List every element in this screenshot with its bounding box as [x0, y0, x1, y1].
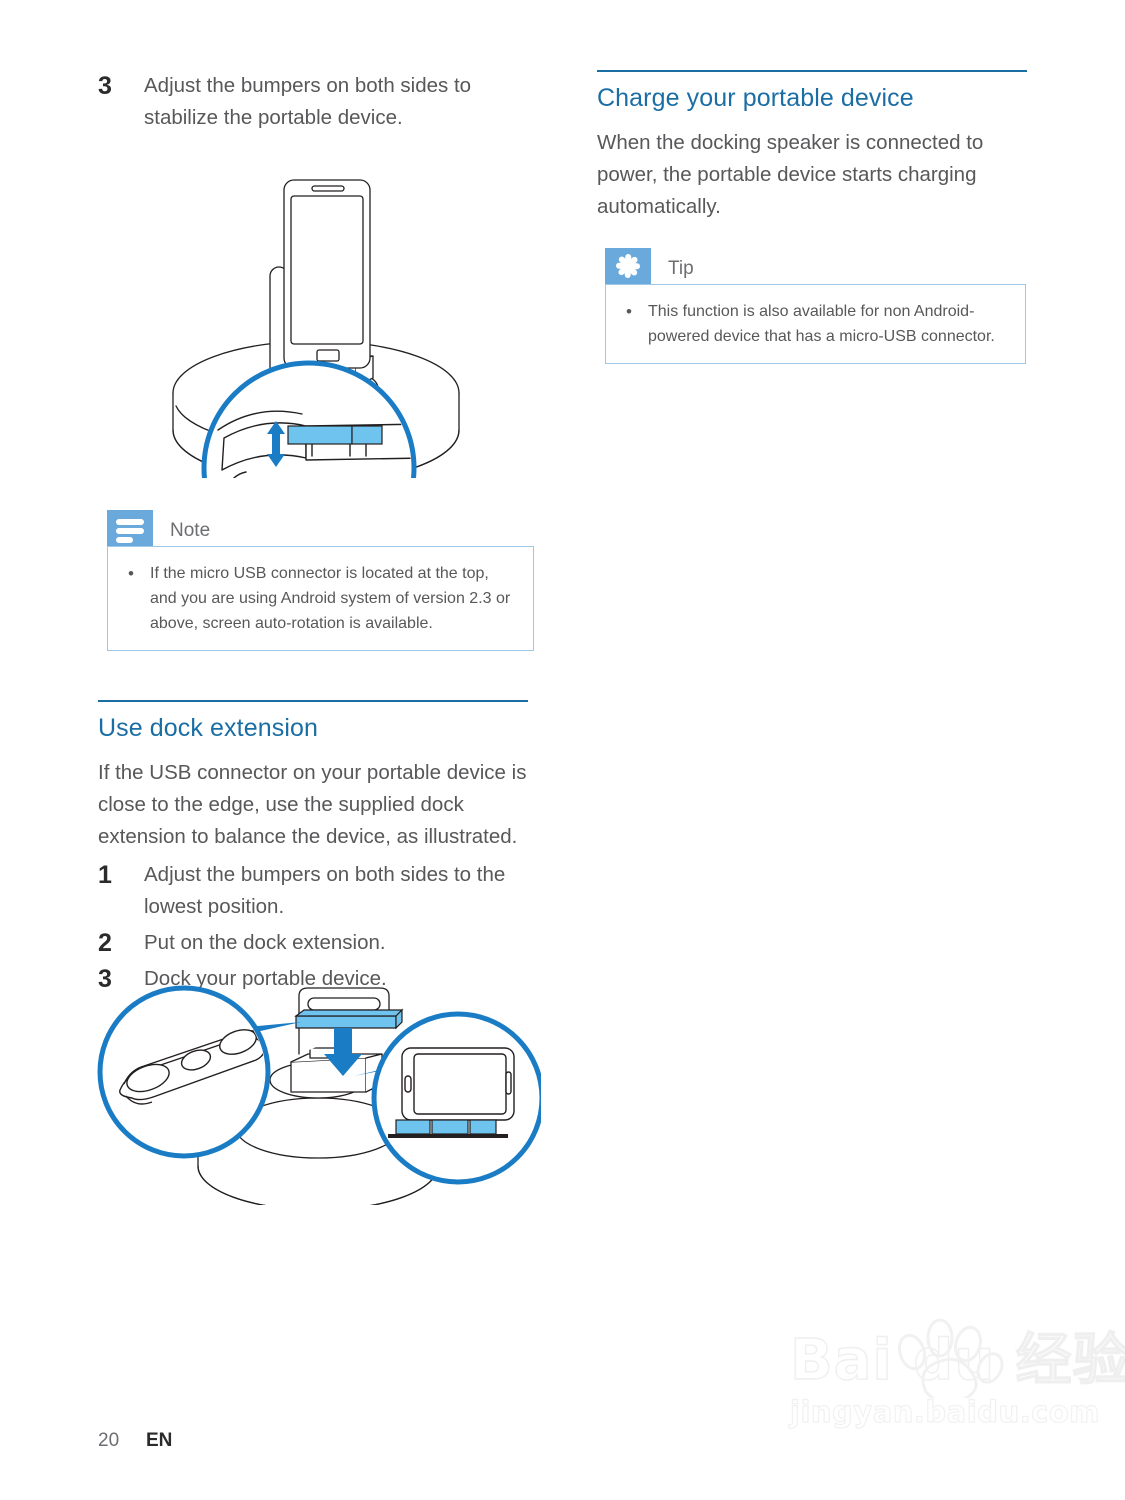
note-lines-icon — [107, 510, 153, 546]
docking-speaker-bumper-adjust-illustration — [98, 138, 538, 478]
note-label: Note — [153, 516, 210, 546]
use-dock-extension-section: Use dock extension If the USB connector … — [98, 700, 533, 999]
paw-print-icon — [890, 1318, 1010, 1398]
tip-list-item: • This function is also available for no… — [622, 299, 1009, 349]
left-column: 3 Adjust the bumpers on both sides to st… — [98, 70, 533, 138]
page-language: EN — [146, 1430, 172, 1452]
step-text: Adjust the bumpers on both sides to stab… — [144, 70, 533, 134]
page-number: 20 — [98, 1430, 146, 1452]
step-number: 2 — [98, 927, 144, 959]
tip-label: Tip — [651, 254, 694, 284]
step-number: 3 — [98, 70, 144, 102]
right-column: Charge your portable device When the doc… — [597, 70, 1032, 229]
bullet-icon: • — [622, 299, 648, 324]
asterisk-glyph — [615, 253, 641, 279]
watermark-line1: Bai du 经验 — [790, 1330, 1080, 1392]
note-callout: Note • If the micro USB connector is loc… — [107, 510, 534, 651]
tip-box: • This function is also available for no… — [605, 284, 1026, 364]
step-number: 1 — [98, 859, 144, 891]
section-divider — [98, 700, 528, 702]
tip-header: Tip — [605, 248, 1026, 284]
section-body-text: When the docking speaker is connected to… — [597, 127, 1032, 223]
asterisk-icon — [605, 248, 651, 284]
tip-item-text: This function is also available for non … — [648, 299, 1009, 349]
bullet-icon: • — [124, 561, 150, 586]
note-list-item: • If the micro USB connector is located … — [124, 561, 517, 636]
step-text: Adjust the bumpers on both sides to the … — [144, 859, 533, 923]
note-item-text: If the micro USB connector is located at… — [150, 561, 517, 636]
manual-page: 3 Adjust the bumpers on both sides to st… — [0, 0, 1125, 1500]
note-header: Note — [107, 510, 534, 546]
watermark-line2: jingyan.baidu.com — [790, 1392, 1080, 1432]
section-divider — [597, 70, 1027, 72]
step-item-1: 1 Adjust the bumpers on both sides to th… — [98, 859, 533, 923]
dock-extension-installation-illustration — [96, 980, 541, 1205]
note-box: • If the micro USB connector is located … — [107, 546, 534, 651]
step-item-3: 3 Adjust the bumpers on both sides to st… — [98, 70, 533, 134]
section-intro-text: If the USB connector on your portable de… — [98, 757, 533, 853]
step-text: Put on the dock extension. — [144, 927, 533, 959]
step-item-2: 2 Put on the dock extension. — [98, 927, 533, 959]
baidu-watermark: Bai du 经验 jingyan.baidu.com — [790, 1330, 1080, 1470]
section-heading: Charge your portable device — [597, 83, 1032, 113]
page-footer: 20 EN — [98, 1430, 172, 1452]
tip-callout: Tip • This function is also available fo… — [605, 248, 1026, 364]
section-heading: Use dock extension — [98, 713, 533, 743]
